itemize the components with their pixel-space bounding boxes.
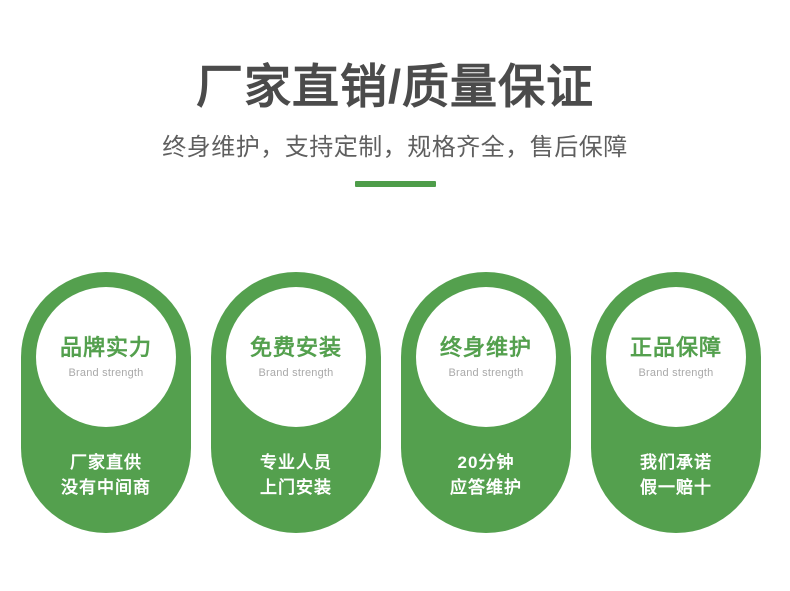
page-subtitle: 终身维护，支持定制，规格齐全，售后保障 xyxy=(0,131,790,165)
card-circle-badge: 终身维护 Brand strength xyxy=(416,287,556,427)
card-title: 正品保障 xyxy=(630,333,722,363)
page-title: 厂家直销/质量保证 xyxy=(0,58,790,116)
card-caption-line-1: 专业人员 xyxy=(211,450,381,475)
card-caption: 20分钟 应答维护 xyxy=(401,450,571,500)
card-circle-badge: 正品保障 Brand strength xyxy=(606,287,746,427)
card-latin-subtitle: Brand strength xyxy=(449,366,524,381)
divider-bar xyxy=(355,181,436,187)
card-latin-subtitle: Brand strength xyxy=(69,366,144,381)
card-caption-line-2: 上门安装 xyxy=(211,475,381,500)
feature-card-brand-strength: 品牌实力 Brand strength 厂家直供 没有中间商 xyxy=(21,272,191,533)
card-title: 免费安装 xyxy=(250,333,342,363)
feature-card-list: 品牌实力 Brand strength 厂家直供 没有中间商 免费安装 Bran… xyxy=(0,272,790,534)
card-title: 终身维护 xyxy=(440,333,532,363)
card-latin-subtitle: Brand strength xyxy=(639,366,714,381)
card-circle-badge: 品牌实力 Brand strength xyxy=(36,287,176,427)
feature-card-free-installation: 免费安装 Brand strength 专业人员 上门安装 xyxy=(211,272,381,533)
card-title: 品牌实力 xyxy=(60,333,152,363)
card-caption-line-1: 厂家直供 xyxy=(21,450,191,475)
card-caption: 厂家直供 没有中间商 xyxy=(21,450,191,500)
card-caption-line-1: 我们承诺 xyxy=(591,450,761,475)
card-caption-line-2: 假一赔十 xyxy=(591,475,761,500)
card-caption-line-2: 应答维护 xyxy=(401,475,571,500)
card-caption: 我们承诺 假一赔十 xyxy=(591,450,761,500)
promo-banner: 厂家直销/质量保证 终身维护，支持定制，规格齐全，售后保障 品牌实力 Brand… xyxy=(0,0,790,591)
card-caption: 专业人员 上门安装 xyxy=(211,450,381,500)
feature-card-lifetime-maintenance: 终身维护 Brand strength 20分钟 应答维护 xyxy=(401,272,571,533)
card-caption-line-1: 20分钟 xyxy=(401,450,571,475)
feature-card-authentic-guarantee: 正品保障 Brand strength 我们承诺 假一赔十 xyxy=(591,272,761,533)
card-circle-badge: 免费安装 Brand strength xyxy=(226,287,366,427)
card-caption-line-2: 没有中间商 xyxy=(21,475,191,500)
card-latin-subtitle: Brand strength xyxy=(259,366,334,381)
